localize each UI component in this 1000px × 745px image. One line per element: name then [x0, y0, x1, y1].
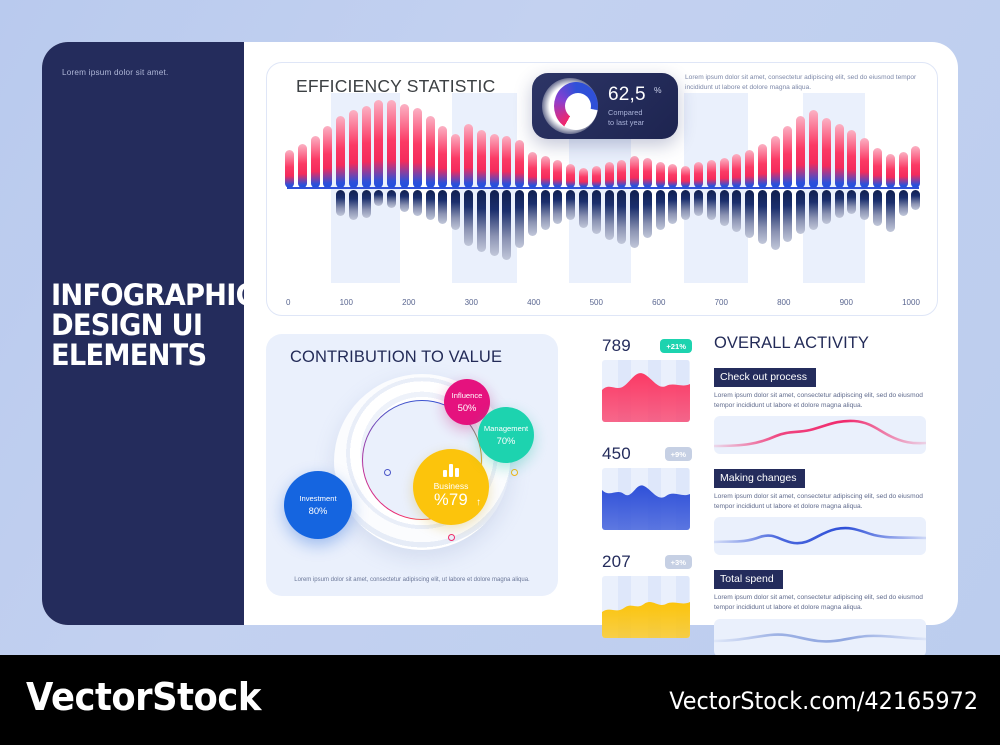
bar-positive [579, 168, 588, 188]
bar-negative [873, 190, 882, 226]
bubble-investment-name: Investment [299, 493, 336, 505]
bar-negative [771, 190, 780, 250]
bar-negative [758, 190, 767, 244]
bar-negative [451, 190, 460, 230]
contribution-to-value-card: CONTRIBUTION TO VALUE Business %79 ↑ Inf… [266, 334, 558, 596]
bar-negative [566, 190, 575, 220]
bar-positive [515, 140, 524, 188]
bar-negative [732, 190, 741, 232]
bar-positive [553, 160, 562, 188]
bar-positive [566, 164, 575, 188]
bar-negative [643, 190, 652, 238]
bar-positive [464, 124, 473, 188]
bar-positive [336, 116, 345, 188]
stat-number: 207 [602, 552, 631, 572]
page-title: INFOGRAPHICS DESIGN UI ELEMENTS [51, 280, 239, 370]
bubble-management-name: Management [484, 423, 528, 435]
bar-positive [426, 116, 435, 188]
bar-negative [822, 190, 831, 224]
bar-negative [477, 190, 486, 252]
stat-header: 789+21% [602, 336, 692, 356]
bar-negative [553, 190, 562, 224]
badge-caption-line-1: Compared [608, 108, 644, 118]
bar-positive [847, 130, 856, 188]
bar-positive [323, 126, 332, 188]
bar-negative [694, 190, 703, 216]
bar-positive [758, 144, 767, 188]
bar-positive [451, 134, 460, 188]
activity-item-curve [714, 416, 926, 454]
bar-negative [336, 190, 345, 216]
overall-activity-section: OVERALL ACTIVITY Check out processLorem … [714, 334, 940, 655]
bar-positive [899, 152, 908, 188]
bubble-investment[interactable]: Investment 80% [284, 471, 352, 539]
bar-negative [835, 190, 844, 218]
efficiency-description: Lorem ipsum dolor sit amet, consectetur … [685, 73, 923, 93]
bar-positive [745, 150, 754, 188]
bar-negative [502, 190, 511, 260]
bar-positive [720, 158, 729, 188]
bar-negative [809, 190, 818, 230]
activity-item[interactable]: Check out processLorem ipsum dolor sit a… [714, 367, 940, 454]
bar-positive [374, 100, 383, 188]
efficiency-badge[interactable]: 62,5 % Compared to last year [532, 73, 678, 139]
bar-positive [643, 158, 652, 188]
x-axis-tick: 100 [340, 298, 353, 307]
x-axis-tick: 900 [840, 298, 853, 307]
efficiency-statistic-card: EFFICIENCY STATISTIC Lorem ipsum dolor s… [266, 62, 938, 316]
bar-positive [311, 136, 320, 188]
stat-header: 207+3% [602, 552, 692, 572]
bar-negative [579, 190, 588, 228]
bar-negative [592, 190, 601, 234]
bubble-management-value: 70% [497, 435, 516, 447]
bar-negative [847, 190, 856, 214]
x-axis-tick: 500 [590, 298, 603, 307]
x-axis-tick: 700 [715, 298, 728, 307]
bar-positive [285, 150, 294, 188]
bar-positive [541, 156, 550, 188]
stat-card[interactable]: 450+9% [602, 444, 692, 530]
bar-positive [873, 148, 882, 188]
stat-delta-badge: +9% [665, 447, 692, 461]
bar-positive [617, 160, 626, 188]
bar-negative [362, 190, 371, 218]
activity-item[interactable]: Making changesLorem ipsum dolor sit amet… [714, 468, 940, 555]
bubble-investment-value: 80% [309, 505, 328, 517]
stat-sparkline [602, 468, 690, 530]
bar-positive [694, 162, 703, 188]
trend-up-icon: ↑ [476, 497, 481, 508]
bar-negative [464, 190, 473, 246]
stat-sparkline [602, 576, 690, 638]
bar-positive [605, 162, 614, 188]
stat-header: 450+9% [602, 444, 692, 464]
bar-negative [886, 190, 895, 232]
bar-positive [656, 162, 665, 188]
business-core-circle[interactable]: Business %79 ↑ [413, 449, 489, 525]
ring-node-bottom[interactable] [448, 534, 455, 541]
bar-negative [400, 190, 409, 212]
infographic-canvas: Lorem ipsum dolor sit amet. INFOGRAPHICS… [0, 0, 1000, 655]
bar-positive [298, 144, 307, 188]
badge-caption: Compared to last year [608, 108, 644, 128]
core-value: %79 [434, 491, 468, 510]
donut-ring-icon [542, 78, 598, 134]
bar-positive [387, 100, 396, 188]
x-axis-tick: 800 [777, 298, 790, 307]
bar-positive [413, 108, 422, 188]
bar-negative [707, 190, 716, 220]
contribution-title: CONTRIBUTION TO VALUE [290, 348, 502, 367]
badge-unit: % [654, 85, 662, 95]
stat-card-list: 789+21%450+9%207+3% [602, 336, 692, 655]
bar-negative [783, 190, 792, 242]
stat-card[interactable]: 207+3% [602, 552, 692, 638]
bar-negative [490, 190, 499, 256]
bar-positive [528, 152, 537, 188]
bar-positive [502, 136, 511, 188]
bar-positive [400, 104, 409, 188]
activity-item-curve [714, 619, 926, 655]
ring-node-left[interactable] [384, 469, 391, 476]
stat-number: 789 [602, 336, 631, 356]
bar-positive [592, 166, 601, 188]
bar-positive [911, 146, 920, 188]
page-title-line-3: ELEMENTS [51, 340, 239, 370]
bar-negative [349, 190, 358, 220]
stat-card[interactable]: 789+21% [602, 336, 692, 422]
bar-positive [886, 154, 895, 188]
bar-negative [899, 190, 908, 216]
bar-negative [681, 190, 690, 220]
bar-negative [617, 190, 626, 244]
badge-caption-line-2: to last year [608, 118, 644, 128]
x-axis-tick: 0 [286, 298, 290, 307]
bar-negative [541, 190, 550, 230]
bubble-influence-name: Influence [452, 390, 483, 402]
bar-positive [860, 138, 869, 188]
bar-positive [668, 164, 677, 188]
sidebar-note: Lorem ipsum dolor sit amet. [62, 68, 227, 77]
stat-delta-badge: +21% [660, 339, 692, 353]
bar-negative [605, 190, 614, 240]
bubble-influence-value: 50% [458, 402, 477, 414]
bar-chart-icon [443, 464, 458, 477]
bar-positive [349, 110, 358, 188]
bar-positive [362, 106, 371, 188]
stat-sparkline [602, 360, 690, 422]
activity-item-list: Check out processLorem ipsum dolor sit a… [714, 367, 940, 655]
bar-positive [783, 126, 792, 188]
bar-negative [860, 190, 869, 220]
bar-positive [477, 130, 486, 188]
x-axis-tick: 1000 [902, 298, 920, 307]
bar-negative [656, 190, 665, 230]
stat-number: 450 [602, 444, 631, 464]
x-axis-tick: 200 [402, 298, 415, 307]
activity-item-label[interactable]: Making changes [714, 469, 805, 488]
bar-positive [630, 156, 639, 188]
core-label: Business [434, 481, 469, 491]
bar-negative [374, 190, 383, 206]
bar-negative [426, 190, 435, 220]
bar-positive [732, 154, 741, 188]
bar-positive [681, 166, 690, 188]
activity-item-curve [714, 517, 926, 555]
watermark-url: VectorStock.com/42165972 [669, 687, 978, 715]
activity-title: OVERALL ACTIVITY [714, 334, 940, 353]
ring-node-right[interactable] [511, 469, 518, 476]
bar-positive [490, 134, 499, 188]
x-axis-tick: 400 [527, 298, 540, 307]
activity-item-text: Lorem ipsum dolor sit amet, consectetur … [714, 593, 940, 612]
bar-negative [668, 190, 677, 224]
bar-positive [771, 136, 780, 188]
bubble-management[interactable]: Management 70% [478, 407, 534, 463]
activity-item-label[interactable]: Total spend [714, 570, 783, 589]
x-axis-tick: 600 [652, 298, 665, 307]
page-title-line-1: INFOGRAPHICS [51, 280, 239, 310]
bar-negative [413, 190, 422, 216]
bar-negative [515, 190, 524, 248]
bar-negative [720, 190, 729, 226]
contribution-note: Lorem ipsum dolor sit amet, consectetur … [266, 577, 558, 583]
bar-positive [707, 160, 716, 188]
bar-negative [745, 190, 754, 238]
sidebar: Lorem ipsum dolor sit amet. INFOGRAPHICS… [42, 42, 244, 625]
bar-negative [796, 190, 805, 234]
bar-negative [911, 190, 920, 210]
zero-axis-line [287, 187, 919, 189]
activity-item-text: Lorem ipsum dolor sit amet, consectetur … [714, 391, 940, 410]
page-title-line-2: DESIGN UI [51, 310, 239, 340]
badge-value: 62,5 [608, 84, 646, 106]
x-axis-ticks: 01002003004005006007008009001000 [279, 298, 927, 307]
watermark-footer: VectorStock VectorStock.com/42165972 [0, 655, 1000, 745]
stat-delta-badge: +3% [665, 555, 692, 569]
watermark-brand: VectorStock [26, 675, 261, 719]
bar-positive [796, 116, 805, 188]
bar-positive [809, 110, 818, 188]
bar-negative [438, 190, 447, 224]
bar-negative [630, 190, 639, 248]
bar-positive [438, 126, 447, 188]
bar-negative [528, 190, 537, 236]
bar-positive [822, 118, 831, 188]
x-axis-tick: 300 [465, 298, 478, 307]
bar-positive [835, 124, 844, 188]
activity-item[interactable]: Total spendLorem ipsum dolor sit amet, c… [714, 569, 940, 655]
activity-item-text: Lorem ipsum dolor sit amet, consectetur … [714, 492, 940, 511]
activity-item-label[interactable]: Check out process [714, 368, 816, 387]
bar-negative [387, 190, 396, 208]
